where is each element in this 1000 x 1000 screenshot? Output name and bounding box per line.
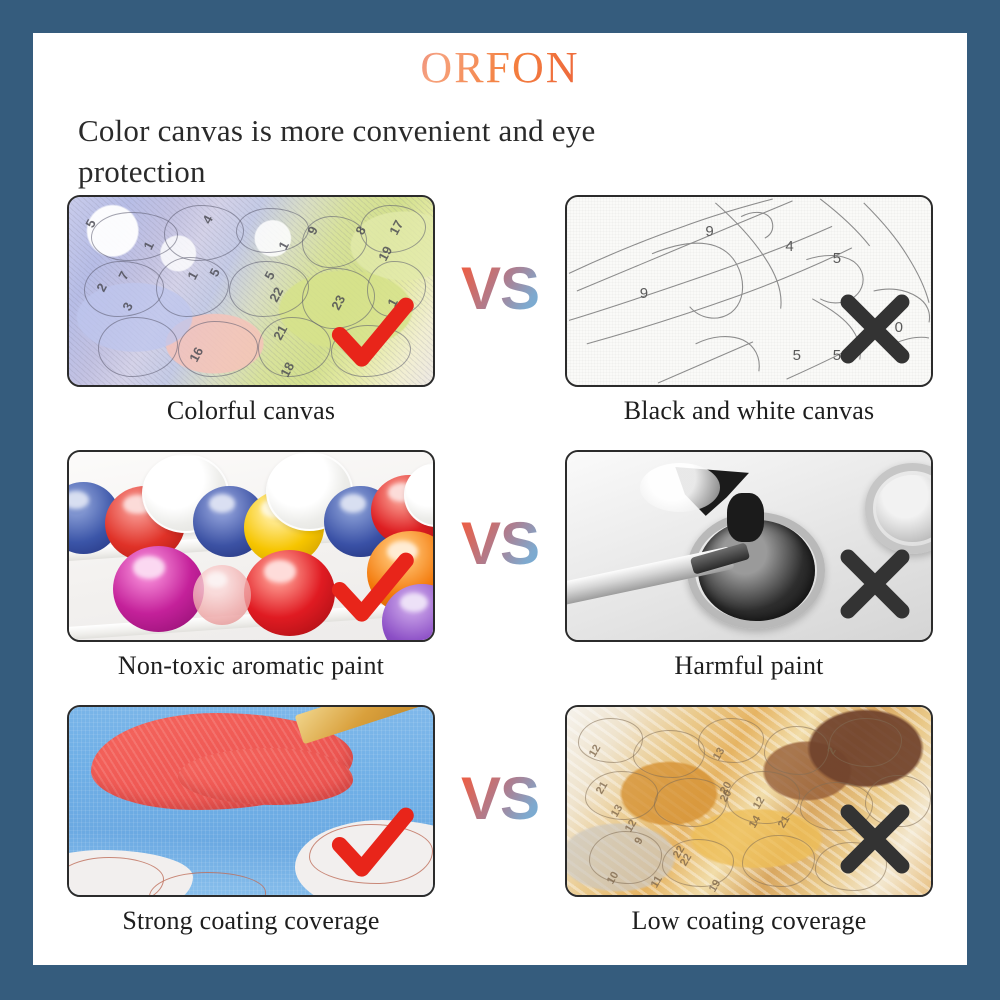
colorful-paint-by-number-canvas-image: 5 1 7 2 3 1 5 5 1 22 23 21 1 bbox=[69, 197, 433, 385]
canvas-number: 5 bbox=[82, 217, 99, 230]
canvas-number: 5 bbox=[833, 250, 841, 267]
canvas-number: 9 bbox=[640, 285, 648, 302]
caption-colorful-canvas: Colorful canvas bbox=[67, 396, 435, 426]
vs-divider-row1: VS bbox=[435, 259, 565, 319]
canvas-number: 5 bbox=[793, 347, 801, 364]
canvas-number: 4 bbox=[785, 238, 793, 255]
page-headline: Color canvas is more convenient and eye … bbox=[78, 110, 698, 192]
compare-cell-strong-coating: Strong coating coverage bbox=[67, 705, 435, 936]
patchy-orange-paint-canvas-image: 12 21 13 12 9 22 10 11 19 20 13 14 bbox=[567, 707, 931, 895]
blank-black-and-white-canvas-image: 9 4 5 9 5 5 0 bbox=[567, 197, 931, 385]
compare-cell-bw-canvas: 9 4 5 9 5 5 0 Black and white canvas bbox=[565, 195, 933, 426]
canvas-outline-paths bbox=[567, 197, 931, 385]
caption-strong-coating: Strong coating coverage bbox=[67, 906, 435, 936]
canvas-number: 9 bbox=[705, 223, 713, 240]
thick-red-paint-on-blue-canvas-image bbox=[69, 707, 433, 895]
page-frame: ORFON Color canvas is more convenient an… bbox=[0, 0, 1000, 1000]
colorful-paint-pots-image bbox=[69, 452, 433, 640]
caption-harmful-paint: Harmful paint bbox=[565, 651, 933, 681]
comparison-row-canvas: 5 1 7 2 3 1 5 5 1 22 23 21 1 bbox=[33, 195, 967, 450]
caption-low-coating: Low coating coverage bbox=[565, 906, 933, 936]
brand-logo: ORFON bbox=[33, 46, 967, 90]
media-card-harmful-paint bbox=[565, 450, 933, 642]
canvas-number: 5 bbox=[833, 347, 841, 364]
canvas-number: 0 bbox=[895, 319, 903, 336]
content-panel: ORFON Color canvas is more convenient an… bbox=[33, 33, 967, 965]
compare-cell-nontoxic-paint: Non-toxic aromatic paint bbox=[67, 450, 435, 681]
caption-bw-canvas: Black and white canvas bbox=[565, 396, 933, 426]
grey-harmful-paint-pot-image bbox=[567, 452, 931, 640]
media-card-bw-canvas: 9 4 5 9 5 5 0 bbox=[565, 195, 933, 387]
media-card-strong-coating bbox=[67, 705, 435, 897]
comparison-row-coating: Strong coating coverage VS bbox=[33, 705, 967, 960]
media-card-colorful-canvas: 5 1 7 2 3 1 5 5 1 22 23 21 1 bbox=[67, 195, 435, 387]
compare-cell-colorful-canvas: 5 1 7 2 3 1 5 5 1 22 23 21 1 bbox=[67, 195, 435, 426]
compare-cell-harmful-paint: Harmful paint bbox=[565, 450, 933, 681]
comparison-row-paint: Non-toxic aromatic paint VS bbox=[33, 450, 967, 705]
media-card-nontoxic-paint bbox=[67, 450, 435, 642]
caption-nontoxic-paint: Non-toxic aromatic paint bbox=[67, 651, 435, 681]
compare-cell-low-coating: 12 21 13 12 9 22 10 11 19 20 13 14 bbox=[565, 705, 933, 936]
comparison-grid: 5 1 7 2 3 1 5 5 1 22 23 21 1 bbox=[33, 195, 967, 960]
vs-divider-row3: VS bbox=[435, 769, 565, 829]
media-card-low-coating: 12 21 13 12 9 22 10 11 19 20 13 14 bbox=[565, 705, 933, 897]
vs-divider-row2: VS bbox=[435, 514, 565, 574]
